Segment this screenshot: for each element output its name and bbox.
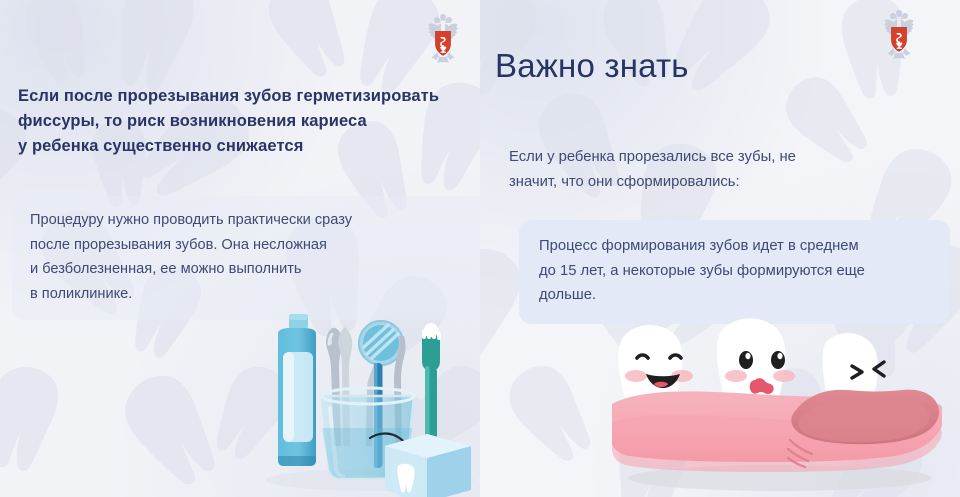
right-highlight-text: Процесс формирования зубов идет в средне… [539,234,930,308]
right-highlight-box: Процесс формирования зубов идет в средне… [519,220,950,324]
right-intro-text: Если у ребенка прорезались все зубы, не … [509,145,941,194]
slide-left: Если после прорезывания зубов герметизир… [0,0,480,497]
left-paragraph-box: Процедуру нужно проводить практически ср… [12,196,480,320]
ministry-emblem-icon-right [877,10,921,62]
presentation-stage: Если после прорезывания зубов герметизир… [0,0,960,497]
ministry-emblem-icon-left [421,14,465,66]
left-headline: Если после прорезывания зубов герметизир… [18,84,470,159]
right-slide-title: Важно знать [495,46,689,86]
left-paragraph-text: Процедуру нужно проводить практически ср… [30,208,480,306]
